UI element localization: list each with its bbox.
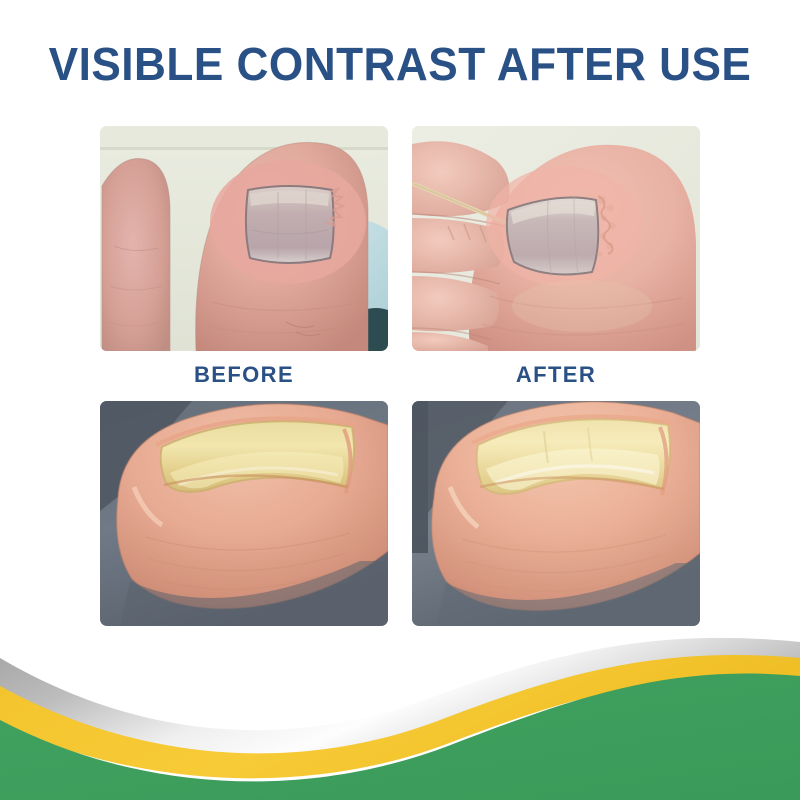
after-thick-nail-photo[interactable] (412, 401, 700, 626)
before-thick-nail-photo[interactable] (100, 401, 388, 626)
page-title: VISIBLE CONTRAST AFTER USE (16, 38, 784, 90)
comparison-cell-before-top (100, 126, 388, 351)
caption-after: AFTER (412, 362, 700, 388)
comparison-row-1 (100, 126, 700, 351)
comparison-cell-after-top (412, 126, 700, 351)
after-toe-photo[interactable] (412, 126, 700, 351)
comparison-cell-after-bottom (412, 401, 700, 626)
caption-row: BEFORE AFTER (100, 362, 700, 388)
comparison-cell-before-bottom (100, 401, 388, 626)
bottom-wave-banner (0, 620, 800, 800)
before-toe-photo[interactable] (100, 126, 388, 351)
poster-canvas: VISIBLE CONTRAST AFTER USE (0, 0, 800, 800)
before-after-grid: BEFORE AFTER (100, 126, 700, 626)
caption-before: BEFORE (100, 362, 388, 388)
comparison-row-2 (100, 401, 700, 626)
